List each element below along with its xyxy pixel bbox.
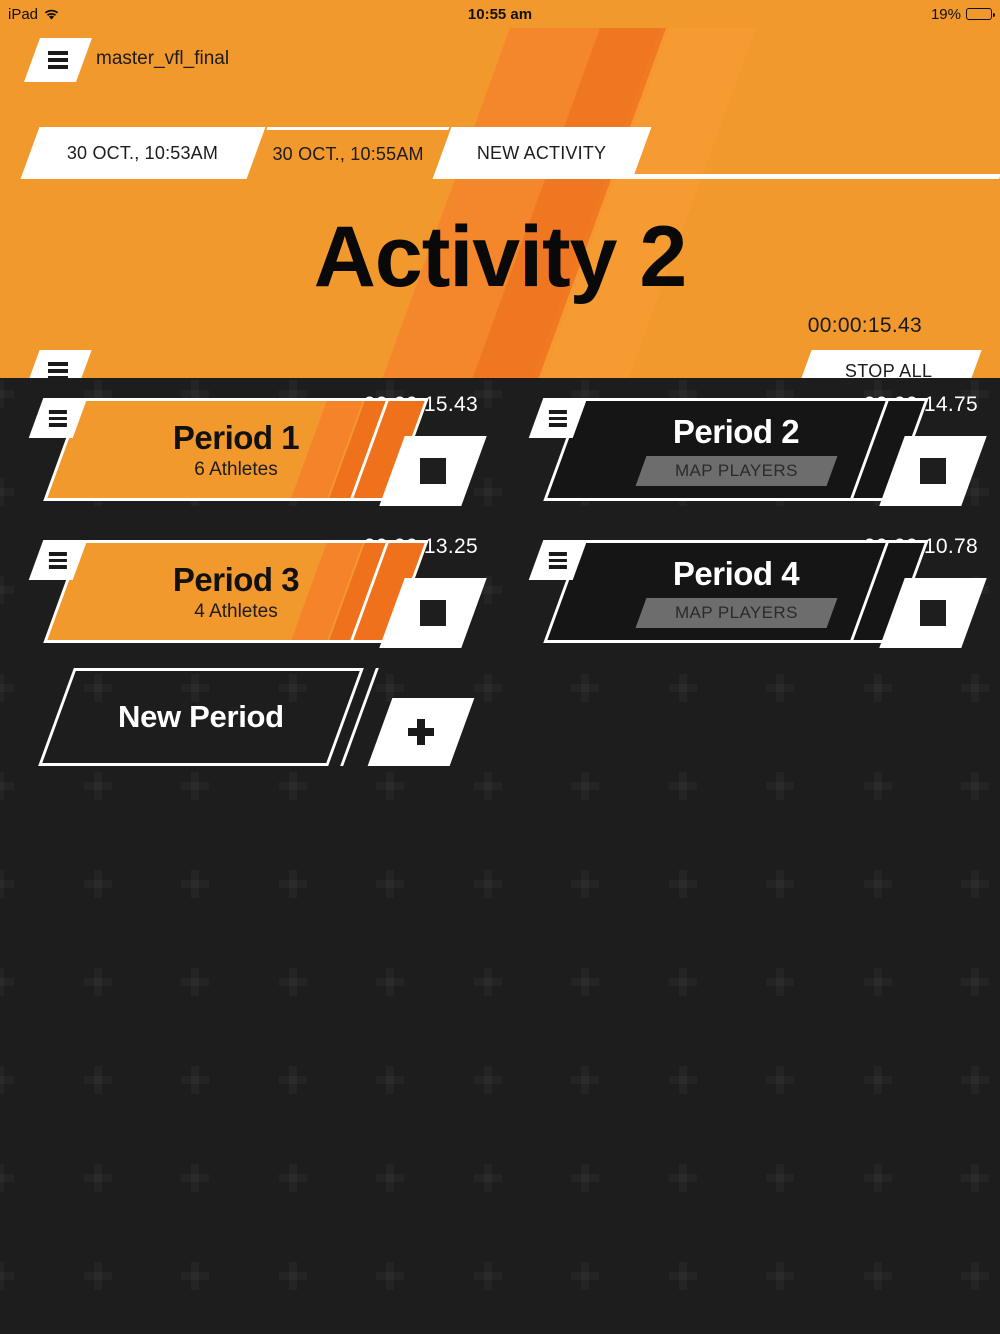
hamburger-icon [48,362,68,378]
stop-square-icon [920,600,946,626]
plus-icon [84,1262,112,1290]
plus-icon [669,870,697,898]
plus-icon [181,1262,209,1290]
plus-icon [864,968,892,996]
period-name: Period 2 [673,413,799,451]
file-row: master_vfl_final [0,38,1000,86]
plus-icon [766,674,794,702]
plus-icon [84,870,112,898]
ios-status-bar: iPad 10:55 am 19% [0,0,1000,28]
plus-icon [474,870,502,898]
hamburger-icon [549,410,567,427]
period-name: Period 3 [173,561,299,599]
plus-icon [669,674,697,702]
plus-icon [0,870,14,898]
plus-icon [571,1164,599,1192]
plus-icon [766,1164,794,1192]
plus-icon [376,1262,404,1290]
plus-icon [0,1262,14,1290]
hamburger-icon [48,51,68,69]
plus-icon [669,1262,697,1290]
map-players-button[interactable]: MAP PLAYERS [635,598,837,628]
plus-icon [571,772,599,800]
plus-icon [181,1066,209,1094]
plus-icon [279,968,307,996]
plus-icon [279,1164,307,1192]
plus-icon [961,1066,989,1094]
athlete-count: 6 Athletes [194,459,277,481]
plus-icon [571,870,599,898]
plus-icon [376,1164,404,1192]
stop-all-button[interactable]: STOP ALL [796,350,981,378]
add-period-button[interactable] [368,698,475,766]
hamburger-icon [49,552,67,569]
plus-icon [864,674,892,702]
plus-icon [474,1164,502,1192]
period-card-4[interactable]: 00:00:10.78 Period 4 MAP PLAYERS [500,532,1000,672]
plus-icon [669,1164,697,1192]
stop-square-icon [420,458,446,484]
new-period-card[interactable]: New Period [0,660,500,780]
plus-icon [864,1066,892,1094]
activity-header: master_vfl_final 30 OCT., 10:53AM 30 OCT… [0,28,1000,378]
plus-icon [181,870,209,898]
tab-activity-1[interactable]: 30 OCT., 10:53AM [21,127,266,179]
plus-icon [961,1164,989,1192]
athlete-count: 4 Athletes [194,601,277,623]
plus-icon [181,1164,209,1192]
plus-icon [474,1262,502,1290]
main-menu-button[interactable] [24,38,92,82]
hamburger-icon [49,410,67,427]
plus-icon [669,968,697,996]
plus-icon [961,1262,989,1290]
tab-activity-2[interactable]: 30 OCT., 10:55AM [249,127,450,179]
plus-icon [376,1066,404,1094]
period-card-3[interactable]: 00:00:13.25 Period 3 4 Athletes [0,532,500,672]
plus-icon [766,968,794,996]
plus-icon [571,1262,599,1290]
map-players-label: MAP PLAYERS [675,461,798,481]
plus-icon [474,1066,502,1094]
stop-square-icon [420,600,446,626]
plus-icon [181,968,209,996]
battery-icon [966,8,992,20]
plus-icon [864,1164,892,1192]
new-period-body[interactable]: New Period [38,668,364,766]
plus-icon [571,1066,599,1094]
map-players-button[interactable]: MAP PLAYERS [635,456,837,486]
plus-icon [474,968,502,996]
plus-icon [571,968,599,996]
activity-tabs: 30 OCT., 10:53AM 30 OCT., 10:55AM NEW AC… [0,127,1000,179]
plus-icon [961,772,989,800]
stop-all-label: STOP ALL [845,361,933,379]
tab-label: 30 OCT., 10:55AM [273,144,424,165]
plus-icon [84,968,112,996]
stop-all-bar: STOP ALL [0,350,1000,378]
session-file-name: master_vfl_final [96,48,229,70]
plus-icon [571,674,599,702]
plus-icon [961,674,989,702]
tab-label: 30 OCT., 10:53AM [67,143,218,164]
period-card-1[interactable]: 00:00:15.43 Period 1 6 Athletes [0,390,500,530]
tab-label: NEW ACTIVITY [477,143,606,164]
status-bar-clock: 10:55 am [0,6,1000,23]
plus-icon [0,1164,14,1192]
plus-icon [376,968,404,996]
plus-icon [376,870,404,898]
status-bar-right: 19% [931,6,992,23]
plus-icon [669,772,697,800]
tab-new-activity[interactable]: NEW ACTIVITY [433,127,652,179]
new-period-label: New Period [118,699,284,735]
period-card-2[interactable]: 00:00:14.75 Period 2 MAP PLAYERS [500,390,1000,530]
plus-icon [766,772,794,800]
plus-icon [669,1066,697,1094]
plus-icon [766,1262,794,1290]
period-name: Period 1 [173,419,299,457]
period-name: Period 4 [673,555,799,593]
plus-icon [864,772,892,800]
plus-icon [864,1262,892,1290]
tabs-underline [619,174,1000,179]
stop-square-icon [920,458,946,484]
plus-icon [0,968,14,996]
battery-percent-label: 19% [931,6,961,23]
plus-icon [0,1066,14,1094]
plus-icon [408,719,434,745]
plus-icon [766,870,794,898]
page-title: Activity 2 [0,214,1000,300]
plus-icon [84,1066,112,1094]
plus-icon [279,1066,307,1094]
activity-menu-button[interactable] [24,350,91,378]
plus-icon [279,870,307,898]
plus-icon [766,1066,794,1094]
hamburger-icon [549,552,567,569]
app-root: iPad 10:55 am 19% mast [0,0,1000,1334]
map-players-label: MAP PLAYERS [675,603,798,623]
plus-icon [864,870,892,898]
master-timer: 00:00:15.43 [808,314,922,338]
plus-icon [961,968,989,996]
plus-icon [279,1262,307,1290]
plus-icon [84,1164,112,1192]
plus-icon [961,870,989,898]
